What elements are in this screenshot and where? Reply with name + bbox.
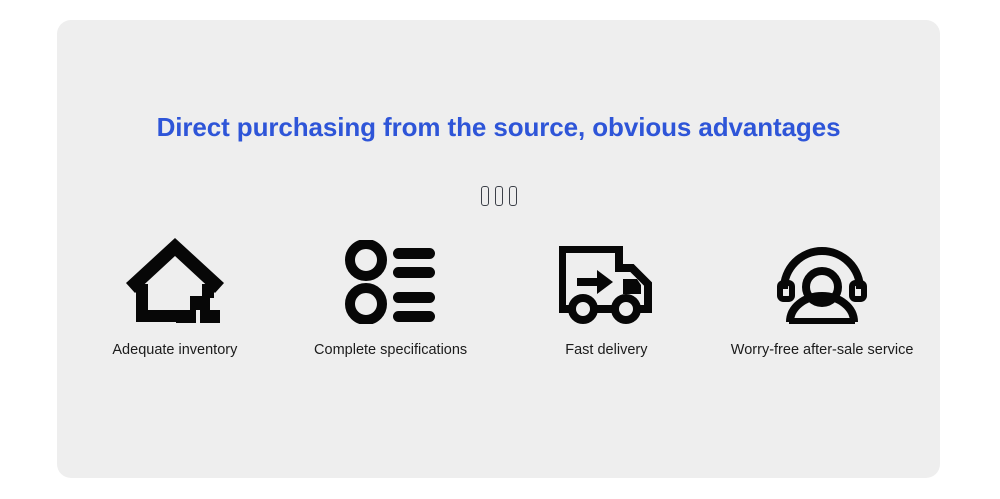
feature-item-specifications: Complete specifications [283,232,499,358]
pip-icon-3 [509,186,517,206]
customer-service-headset-icon [776,232,868,324]
feature-item-inventory: Adequate inventory [67,232,283,358]
feature-label-service: Worry-free after-sale service [731,343,914,358]
pip-icon-2 [495,186,503,206]
page-title: Direct purchasing from the source, obvio… [57,112,940,143]
promo-banner: Direct purchasing from the source, obvio… [0,0,1000,499]
feature-label-inventory: Adequate inventory [112,343,237,358]
specification-list-icon [345,232,437,324]
triple-pip-divider [57,186,940,206]
feature-item-service: Worry-free after-sale service [714,232,930,358]
feature-label-delivery: Fast delivery [565,343,647,358]
delivery-truck-icon [559,232,653,324]
warehouse-house-icon [124,232,226,324]
feature-label-specifications: Complete specifications [314,343,467,358]
feature-item-delivery: Fast delivery [499,232,715,358]
feature-list: Adequate inventory Complete specificatio… [57,232,940,358]
pip-icon-1 [481,186,489,206]
